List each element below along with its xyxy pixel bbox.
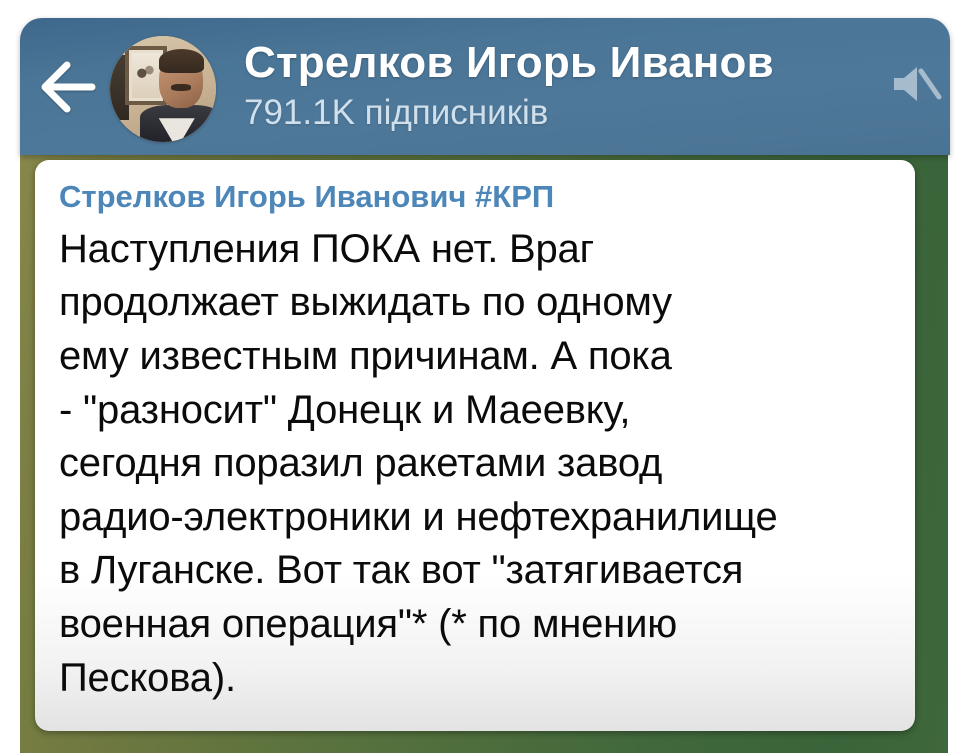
message-bubble[interactable]: Стрелков Игорь Иванович #КРП Наступления… <box>35 160 915 731</box>
message-line: продолжает выжидать по одному <box>59 276 893 330</box>
message-line: в Луганске. Вот так вот "затягивается <box>59 544 893 598</box>
avatar-mustache <box>171 84 190 90</box>
telegram-channel-screen: Стрелков Игорь Иванов 791.1K підписників… <box>0 0 958 753</box>
message-line: Наступления ПОКА нет. Враг <box>59 223 893 277</box>
back-arrow-icon <box>37 59 99 115</box>
message-author[interactable]: Стрелков Игорь Иванович #КРП <box>59 178 893 217</box>
speaker-muted-icon[interactable] <box>888 60 942 108</box>
wallpaper-right-margin <box>948 150 958 753</box>
message-line: ему известным причинам. А пока <box>59 330 893 384</box>
avatar-frame-art <box>132 53 160 98</box>
back-button[interactable] <box>20 18 116 155</box>
message-line: радио-электроники и нефтехранилище <box>59 491 893 545</box>
message-line: Пескова). <box>59 652 893 706</box>
wallpaper-left-margin <box>0 150 20 753</box>
subscriber-count: 791.1K підписників <box>244 91 950 135</box>
header-titles: Стрелков Игорь Иванов 791.1K підписників <box>216 40 950 134</box>
message-line: - "разносит" Донецк и Маеевку, <box>59 384 893 438</box>
channel-header-bar: Стрелков Игорь Иванов 791.1K підписників <box>20 18 950 155</box>
message-text: Наступления ПОКА нет. Враг продолжает вы… <box>59 223 893 705</box>
message-line: сегодня поразил ракетами завод <box>59 437 893 491</box>
avatar-hair <box>159 49 205 72</box>
avatar[interactable] <box>110 36 216 142</box>
channel-title[interactable]: Стрелков Игорь Иванов <box>244 40 950 87</box>
message-line: военная операция"* (* по мнению <box>59 598 893 652</box>
